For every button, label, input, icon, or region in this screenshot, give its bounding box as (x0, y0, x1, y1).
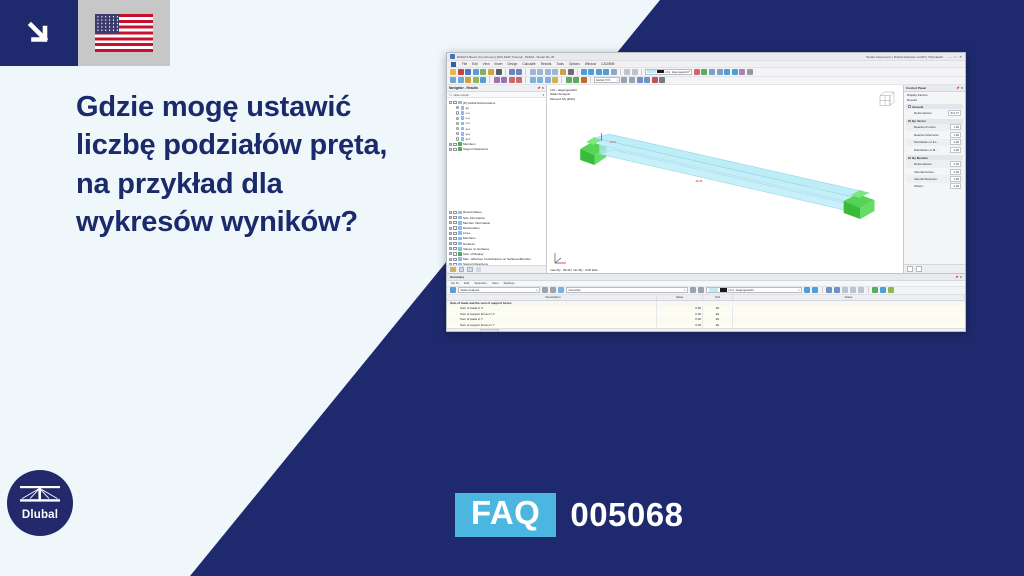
menu-item-cadbim[interactable]: CAD/BIM (601, 62, 614, 66)
summary-menu-settings[interactable]: Settings (503, 281, 514, 285)
result-icon (461, 122, 465, 126)
menu-item-results[interactable]: Results (541, 62, 552, 66)
summary-table[interactable]: Description Value Unit Notes Sum of load… (447, 295, 965, 329)
navigator-panel: Navigator - Results 📌 ✕ ☐ Hide results ▾… (447, 85, 547, 273)
truss-frame-icon (19, 485, 61, 507)
tree-label: [P] Global Deformations (463, 101, 495, 105)
result-values-icon (458, 211, 462, 215)
us-flag-icon (95, 14, 153, 52)
row-value[interactable]: 1.00 (950, 139, 961, 145)
expander-icon[interactable]: + (449, 227, 452, 230)
deselect-icon[interactable] (644, 77, 650, 83)
control-panel-subtitle: Display Factors Results (904, 92, 965, 103)
control-row[interactable]: Internal Forces: 1.00 (906, 168, 963, 175)
checkbox[interactable] (453, 143, 456, 146)
maximize-icon[interactable]: □ (954, 55, 956, 59)
line-load-icon[interactable] (516, 77, 522, 83)
page-title: Gdzie mogę ustawić liczbę podziałów pręt… (76, 88, 426, 241)
tree-label: Sum of Display (463, 252, 484, 256)
deformation-icon[interactable] (566, 77, 572, 83)
tree-label: φ-x (466, 127, 471, 131)
calculate-icon[interactable] (701, 69, 707, 75)
summary-pin-icon[interactable]: 📌 ✕ (955, 275, 962, 279)
column-header-value: Value (657, 295, 703, 301)
filter-icon[interactable] (709, 69, 715, 75)
result-icon (461, 127, 465, 131)
beam-model-render (547, 85, 903, 273)
column-header-description: Description (447, 295, 657, 301)
results-label: Results (907, 98, 962, 103)
grid-icon[interactable] (621, 77, 627, 83)
app-titlebar: RFEM 6 Beam (Continuous) [000-FEM-Tutori… (447, 53, 965, 61)
navigator-footer-tabs[interactable] (447, 265, 546, 273)
checkbox[interactable] (453, 247, 456, 250)
navigator-tab-results-icon[interactable] (476, 267, 482, 273)
dlubal-logo-text: Dlubal (22, 509, 58, 521)
select-all-icon[interactable] (826, 287, 832, 293)
values-on-surfaces-icon (458, 247, 462, 251)
model-viewport[interactable]: LC1 - Eigengewicht Static Analysis Momen… (547, 85, 903, 273)
menu-item-view[interactable]: View (483, 62, 490, 66)
close-icon[interactable]: ✕ (959, 55, 962, 59)
navigator-filter-label: Hide results (454, 93, 469, 97)
members-icon (458, 142, 462, 146)
result-icon (461, 137, 465, 141)
rfem-application-window: RFEM 6 Beam (Continuous) [000-FEM-Tutori… (446, 52, 966, 332)
navigator-tab-data-icon[interactable] (450, 267, 456, 273)
zoom-in-icon[interactable] (581, 69, 587, 75)
row-label: Distribution of Fo... (914, 140, 939, 144)
checkbox[interactable] (453, 148, 456, 151)
summary-tab[interactable]: Summary (480, 329, 498, 332)
faq-badge: FAQ (455, 493, 556, 537)
line-icon[interactable] (458, 77, 464, 83)
print-table-icon[interactable] (880, 287, 886, 293)
app-body: Navigator - Results 📌 ✕ ☐ Hide results ▾… (447, 85, 965, 273)
measure-icon[interactable] (624, 69, 630, 75)
select-icon[interactable] (637, 77, 643, 83)
checkbox[interactable] (453, 258, 456, 261)
hide-results-checkbox[interactable]: ☐ (449, 93, 452, 97)
row-value[interactable]: 1.00 (950, 132, 961, 138)
column-settings-icon[interactable] (850, 287, 856, 293)
export-excel-icon[interactable] (872, 287, 878, 293)
expander-icon[interactable]: - (449, 101, 452, 104)
row-label: Others: (914, 184, 924, 188)
tree-label: Lines (463, 231, 470, 235)
coordinate-system-combo[interactable]: Global XYZ ▾ (594, 77, 620, 83)
tree-label: Member Information (463, 221, 490, 225)
tree-label: Surfaces (463, 242, 475, 246)
control-row[interactable]: Deformations: 1.00 (906, 160, 963, 167)
next-analysis-icon[interactable] (550, 287, 556, 293)
radio-button[interactable] (456, 122, 459, 125)
page-indicator: 1 of 1 (460, 330, 467, 332)
radio-button[interactable] (456, 132, 459, 135)
checkbox[interactable] (453, 237, 456, 240)
summary-menu-goto[interactable]: Go To (451, 281, 459, 285)
tree-label: Members (463, 142, 476, 146)
pan-icon[interactable] (611, 69, 617, 75)
app-user-label: Stefan Ackermann | Dlubal Software GmbH … (866, 55, 943, 59)
radio-button[interactable] (456, 127, 459, 130)
render-transparent-icon[interactable] (545, 69, 551, 75)
deformation-group-icon (458, 101, 462, 105)
max-effective-contributions-icon (458, 257, 462, 261)
app-icon (450, 54, 455, 59)
printout-icon[interactable] (496, 69, 502, 75)
material-icon[interactable] (530, 77, 536, 83)
expander-icon[interactable]: + (449, 211, 452, 214)
next-page-button[interactable]: › (470, 330, 471, 332)
menu-item-calculate[interactable]: Calculate (522, 62, 535, 66)
tree-label: Max - Effective Contributions on Surface… (463, 257, 531, 261)
settings-icon[interactable] (659, 77, 665, 83)
table-settings-icon[interactable] (842, 287, 848, 293)
export-icon[interactable] (488, 69, 494, 75)
rotate-icon[interactable] (739, 69, 745, 75)
result-icon (461, 132, 465, 136)
app-title: RFEM 6 Beam (Continuous) [000-FEM-Tutori… (457, 55, 554, 59)
main-toolbar-row-1[interactable]: LC1 Eigengewicht ▾ (447, 68, 965, 77)
axis-triad-icon (553, 251, 569, 265)
max-value-label: -39.45 (695, 180, 702, 183)
menu-item-window[interactable]: Window (585, 62, 596, 66)
new-icon[interactable] (450, 69, 456, 75)
us-flag-tile (78, 0, 170, 66)
collapse-icon[interactable] (908, 157, 911, 160)
row-label: Reaction Forces: (914, 125, 936, 129)
navigator-tab-display-icon[interactable] (459, 267, 465, 273)
section-library-icon[interactable] (537, 77, 543, 83)
lines-icon (458, 231, 462, 235)
checkbox[interactable] (453, 232, 456, 235)
row-label: Reaction Moments: (914, 133, 939, 137)
menu-item-file[interactable]: File (462, 62, 467, 66)
result-icon (461, 111, 465, 115)
tree-label: u-z (466, 121, 470, 125)
size-information-icon (458, 216, 462, 220)
refresh-table-icon[interactable] (888, 287, 894, 293)
view-xy-icon[interactable] (732, 69, 738, 75)
result-icon (461, 106, 465, 110)
tree-label: Deformation (463, 226, 480, 230)
menu-item-insert[interactable]: Insert (495, 62, 503, 66)
control-panel-title: Control Panel (906, 86, 926, 90)
row-value[interactable]: 1.00 (950, 124, 961, 130)
summary-title: Summary (450, 275, 464, 279)
find-next-icon[interactable] (812, 287, 818, 293)
view-select[interactable]: Overview ▾ (566, 287, 688, 293)
checkbox[interactable] (453, 226, 456, 229)
control-panel-pin-icon[interactable]: 📌 ✕ (956, 86, 963, 90)
menu-item-edit[interactable]: Edit (472, 62, 478, 66)
viewport-result-text: max My : 39.45 | min My : 0.00 kNm (550, 268, 598, 272)
radio-button[interactable] (456, 137, 459, 140)
solid-icon[interactable] (480, 77, 486, 83)
row-value[interactable]: 1.00 (950, 161, 961, 167)
results-on-icon[interactable] (694, 69, 700, 75)
control-row[interactable]: Others: 1.00 (906, 183, 963, 190)
prev-page-button[interactable]: ‹ (456, 330, 457, 332)
checkbox[interactable] (453, 252, 456, 255)
node-icon[interactable] (450, 77, 456, 83)
last-page-button[interactable]: ≫ (474, 330, 477, 332)
overview-icon (558, 287, 564, 293)
surfaces-icon (458, 242, 462, 246)
collapse-icon[interactable] (908, 105, 911, 108)
tree-label: φ-y (466, 132, 471, 136)
panel-factors-tab-icon[interactable] (907, 266, 913, 272)
loadcase-id: LC1 (665, 70, 670, 74)
column-header-unit: Unit (703, 295, 733, 301)
hinge-icon[interactable] (501, 77, 507, 83)
visibility-icon[interactable] (717, 69, 723, 75)
minimize-icon[interactable]: – (949, 55, 951, 59)
radio-button[interactable] (456, 117, 459, 120)
results-tree[interactable]: - [P] Global Deformations |u| u-x (447, 98, 546, 265)
zoom-out-icon[interactable] (588, 69, 594, 75)
save-icon[interactable] (465, 69, 471, 75)
row-label: Deformations: (914, 162, 932, 166)
zoom-window-icon[interactable] (596, 69, 602, 75)
control-row[interactable]: Reaction Forces: 1.00 (906, 124, 963, 131)
summary-toolbar[interactable]: Static Analysis ▾ Overview ▾ LC1 - Eigen… (447, 287, 965, 295)
tree-label: |u| (466, 106, 469, 110)
row-label: Distribution of M... (914, 148, 938, 152)
main-toolbar-row-2[interactable]: Global XYZ ▾ (447, 77, 965, 86)
group-label: By Member (912, 156, 928, 160)
menu-item-tools[interactable]: Tools (556, 62, 563, 66)
control-row[interactable]: Internal Moments: 1.00 (906, 175, 963, 182)
prev-view-icon[interactable] (690, 287, 696, 293)
loadcase-combo[interactable]: LC1 Eigengewicht ▾ (645, 69, 692, 75)
tree-label: u-x (466, 111, 470, 115)
checkbox[interactable] (453, 221, 456, 224)
support-reactions-icon (458, 147, 462, 151)
sum-of-display-icon (458, 252, 462, 256)
render-wire-icon[interactable] (537, 69, 543, 75)
menu-item-design[interactable]: Design (507, 62, 517, 66)
tree-label: Size Information (463, 216, 485, 220)
thickness-icon[interactable] (545, 77, 551, 83)
row-value[interactable]: 1.00 (950, 147, 961, 153)
summary-table-window: Summary 📌 ✕ Go To Edit Selection View Se… (447, 273, 965, 332)
group-label: General (912, 105, 923, 109)
printer-icon[interactable] (480, 69, 486, 75)
export-table-icon[interactable] (858, 287, 864, 293)
undo-icon[interactable] (509, 69, 515, 75)
member-information-icon (458, 221, 462, 225)
members-icon (458, 237, 462, 241)
control-group-by-vector: By Vector Reaction Forces: 1.00 Reaction… (906, 119, 963, 154)
section-icon[interactable] (568, 69, 574, 75)
app-menubar[interactable]: File Edit View Insert Design Calculate R… (447, 61, 965, 68)
summary-menu-selection[interactable]: Selection (474, 281, 487, 285)
delete-icon[interactable] (652, 77, 658, 83)
internal-forces-icon[interactable] (573, 77, 579, 83)
control-row[interactable]: Reaction Moments: 1.00 (906, 131, 963, 138)
row-label: Internal Moments: (914, 177, 938, 181)
navigator-pin-icon[interactable]: 📌 ✕ (537, 86, 544, 90)
collapse-icon[interactable] (908, 120, 911, 123)
summary-loadcase-value: LC1 - Eigengewicht (729, 288, 754, 292)
render-solid-icon[interactable] (530, 69, 536, 75)
menu-item-options[interactable]: Options (569, 62, 580, 66)
navigator-title: Navigator - Results (449, 86, 478, 90)
expander-icon[interactable]: + (449, 148, 452, 151)
column-header-notes: Notes (733, 295, 965, 301)
isometric-icon[interactable] (724, 69, 730, 75)
find-icon[interactable] (804, 287, 810, 293)
mesh-icon[interactable] (552, 77, 558, 83)
deformation-icon (458, 226, 462, 230)
panel-filter-tab-icon[interactable] (916, 266, 922, 272)
tree-label: u-y (466, 116, 470, 120)
render-hidden-icon[interactable] (552, 69, 558, 75)
tree-label: Members (463, 236, 476, 240)
control-group-general: General Deformations: %/1.77 (906, 104, 963, 117)
load-icon[interactable] (509, 77, 515, 83)
tree-label: Values on Surfaces (463, 247, 489, 251)
navigator-tab-views-icon[interactable] (467, 267, 473, 273)
radio-button[interactable] (456, 111, 459, 114)
lighting-icon[interactable] (560, 69, 566, 75)
summary-menu-edit[interactable]: Edit (464, 281, 469, 285)
expander-icon[interactable]: + (449, 143, 452, 146)
summary-menu-view[interactable]: View (492, 281, 499, 285)
arrow-down-right-icon (0, 0, 78, 66)
row-value[interactable]: 1.00 (950, 183, 961, 189)
member-icon[interactable] (465, 77, 471, 83)
zoom-all-icon[interactable] (603, 69, 609, 75)
filter-rows-icon[interactable] (834, 287, 840, 293)
expander-icon[interactable]: + (449, 242, 452, 245)
checkbox[interactable] (453, 211, 456, 214)
dlubal-logo: Dlubal (7, 470, 73, 536)
rfem-logo-icon (451, 62, 456, 67)
control-row[interactable]: Distribution of M... 1.00 (906, 146, 963, 153)
open-icon[interactable] (458, 69, 464, 75)
next-view-icon[interactable] (698, 287, 704, 293)
tree-label: Result Values (463, 210, 482, 214)
row-value[interactable]: 1.00 (950, 169, 961, 175)
expander-icon[interactable]: + (449, 216, 452, 219)
expander-icon[interactable]: + (449, 237, 452, 240)
tree-label: φ-z (466, 137, 471, 141)
expander-icon[interactable]: + (449, 232, 452, 235)
faq-number: 005068 (570, 496, 683, 534)
control-panel-footer[interactable] (904, 264, 965, 273)
checkbox[interactable] (453, 216, 456, 219)
window-controls[interactable]: – □ ✕ (949, 55, 962, 59)
checkbox[interactable] (453, 242, 456, 245)
snap-icon[interactable] (747, 69, 753, 75)
navigator-dropdown-icon[interactable]: ▾ (543, 93, 544, 97)
first-page-button[interactable]: ≪ (450, 330, 453, 332)
dimension-icon[interactable] (632, 69, 638, 75)
summary-loadcase-select[interactable]: LC1 - Eigengewicht ▾ (706, 287, 802, 293)
control-row[interactable]: Distribution of Fo... 1.00 (906, 139, 963, 146)
tree-label: Support Reactions (463, 147, 488, 151)
navigator-header: Navigator - Results 📌 ✕ (447, 85, 546, 92)
print-icon[interactable] (473, 69, 479, 75)
loadcase-name: Eigengewicht (672, 70, 689, 74)
control-panel: Control Panel 📌 ✕ Display Factors Result… (903, 85, 965, 273)
analysis-type-value: Static Analysis (461, 288, 480, 292)
surface-icon[interactable] (473, 77, 479, 83)
expander-icon[interactable]: + (449, 252, 452, 255)
faq-footer: FAQ 005068 (455, 493, 683, 537)
row-label: Deformations: (914, 111, 932, 115)
result-icon (461, 116, 465, 120)
view-select-value: Overview (569, 288, 581, 292)
group-label: By Vector (912, 119, 926, 123)
stress-icon[interactable] (581, 77, 587, 83)
control-row[interactable]: Deformations: %/1.77 (906, 109, 963, 116)
row-value[interactable]: 1.00 (950, 176, 961, 182)
ortho-icon[interactable] (629, 77, 635, 83)
redo-icon[interactable] (516, 69, 522, 75)
expander-icon[interactable]: + (449, 258, 452, 261)
static-analysis-icon (450, 287, 456, 293)
support-icon[interactable] (494, 77, 500, 83)
expander-icon[interactable]: + (449, 247, 452, 250)
summary-footer[interactable]: ≪ ‹ 1 of 1 › ≫ Summary (447, 328, 965, 332)
expander-icon[interactable]: + (449, 221, 452, 224)
prev-analysis-icon[interactable] (542, 287, 548, 293)
row-value[interactable]: %/1.77 (948, 110, 961, 116)
row-label: Internal Forces: (914, 170, 934, 174)
analysis-type-select[interactable]: Static Analysis ▾ (458, 287, 540, 293)
checkbox[interactable] (453, 101, 456, 104)
radio-button[interactable] (456, 106, 459, 109)
control-group-by-member: By Member Deformations: 1.00 Internal Fo… (906, 155, 963, 190)
